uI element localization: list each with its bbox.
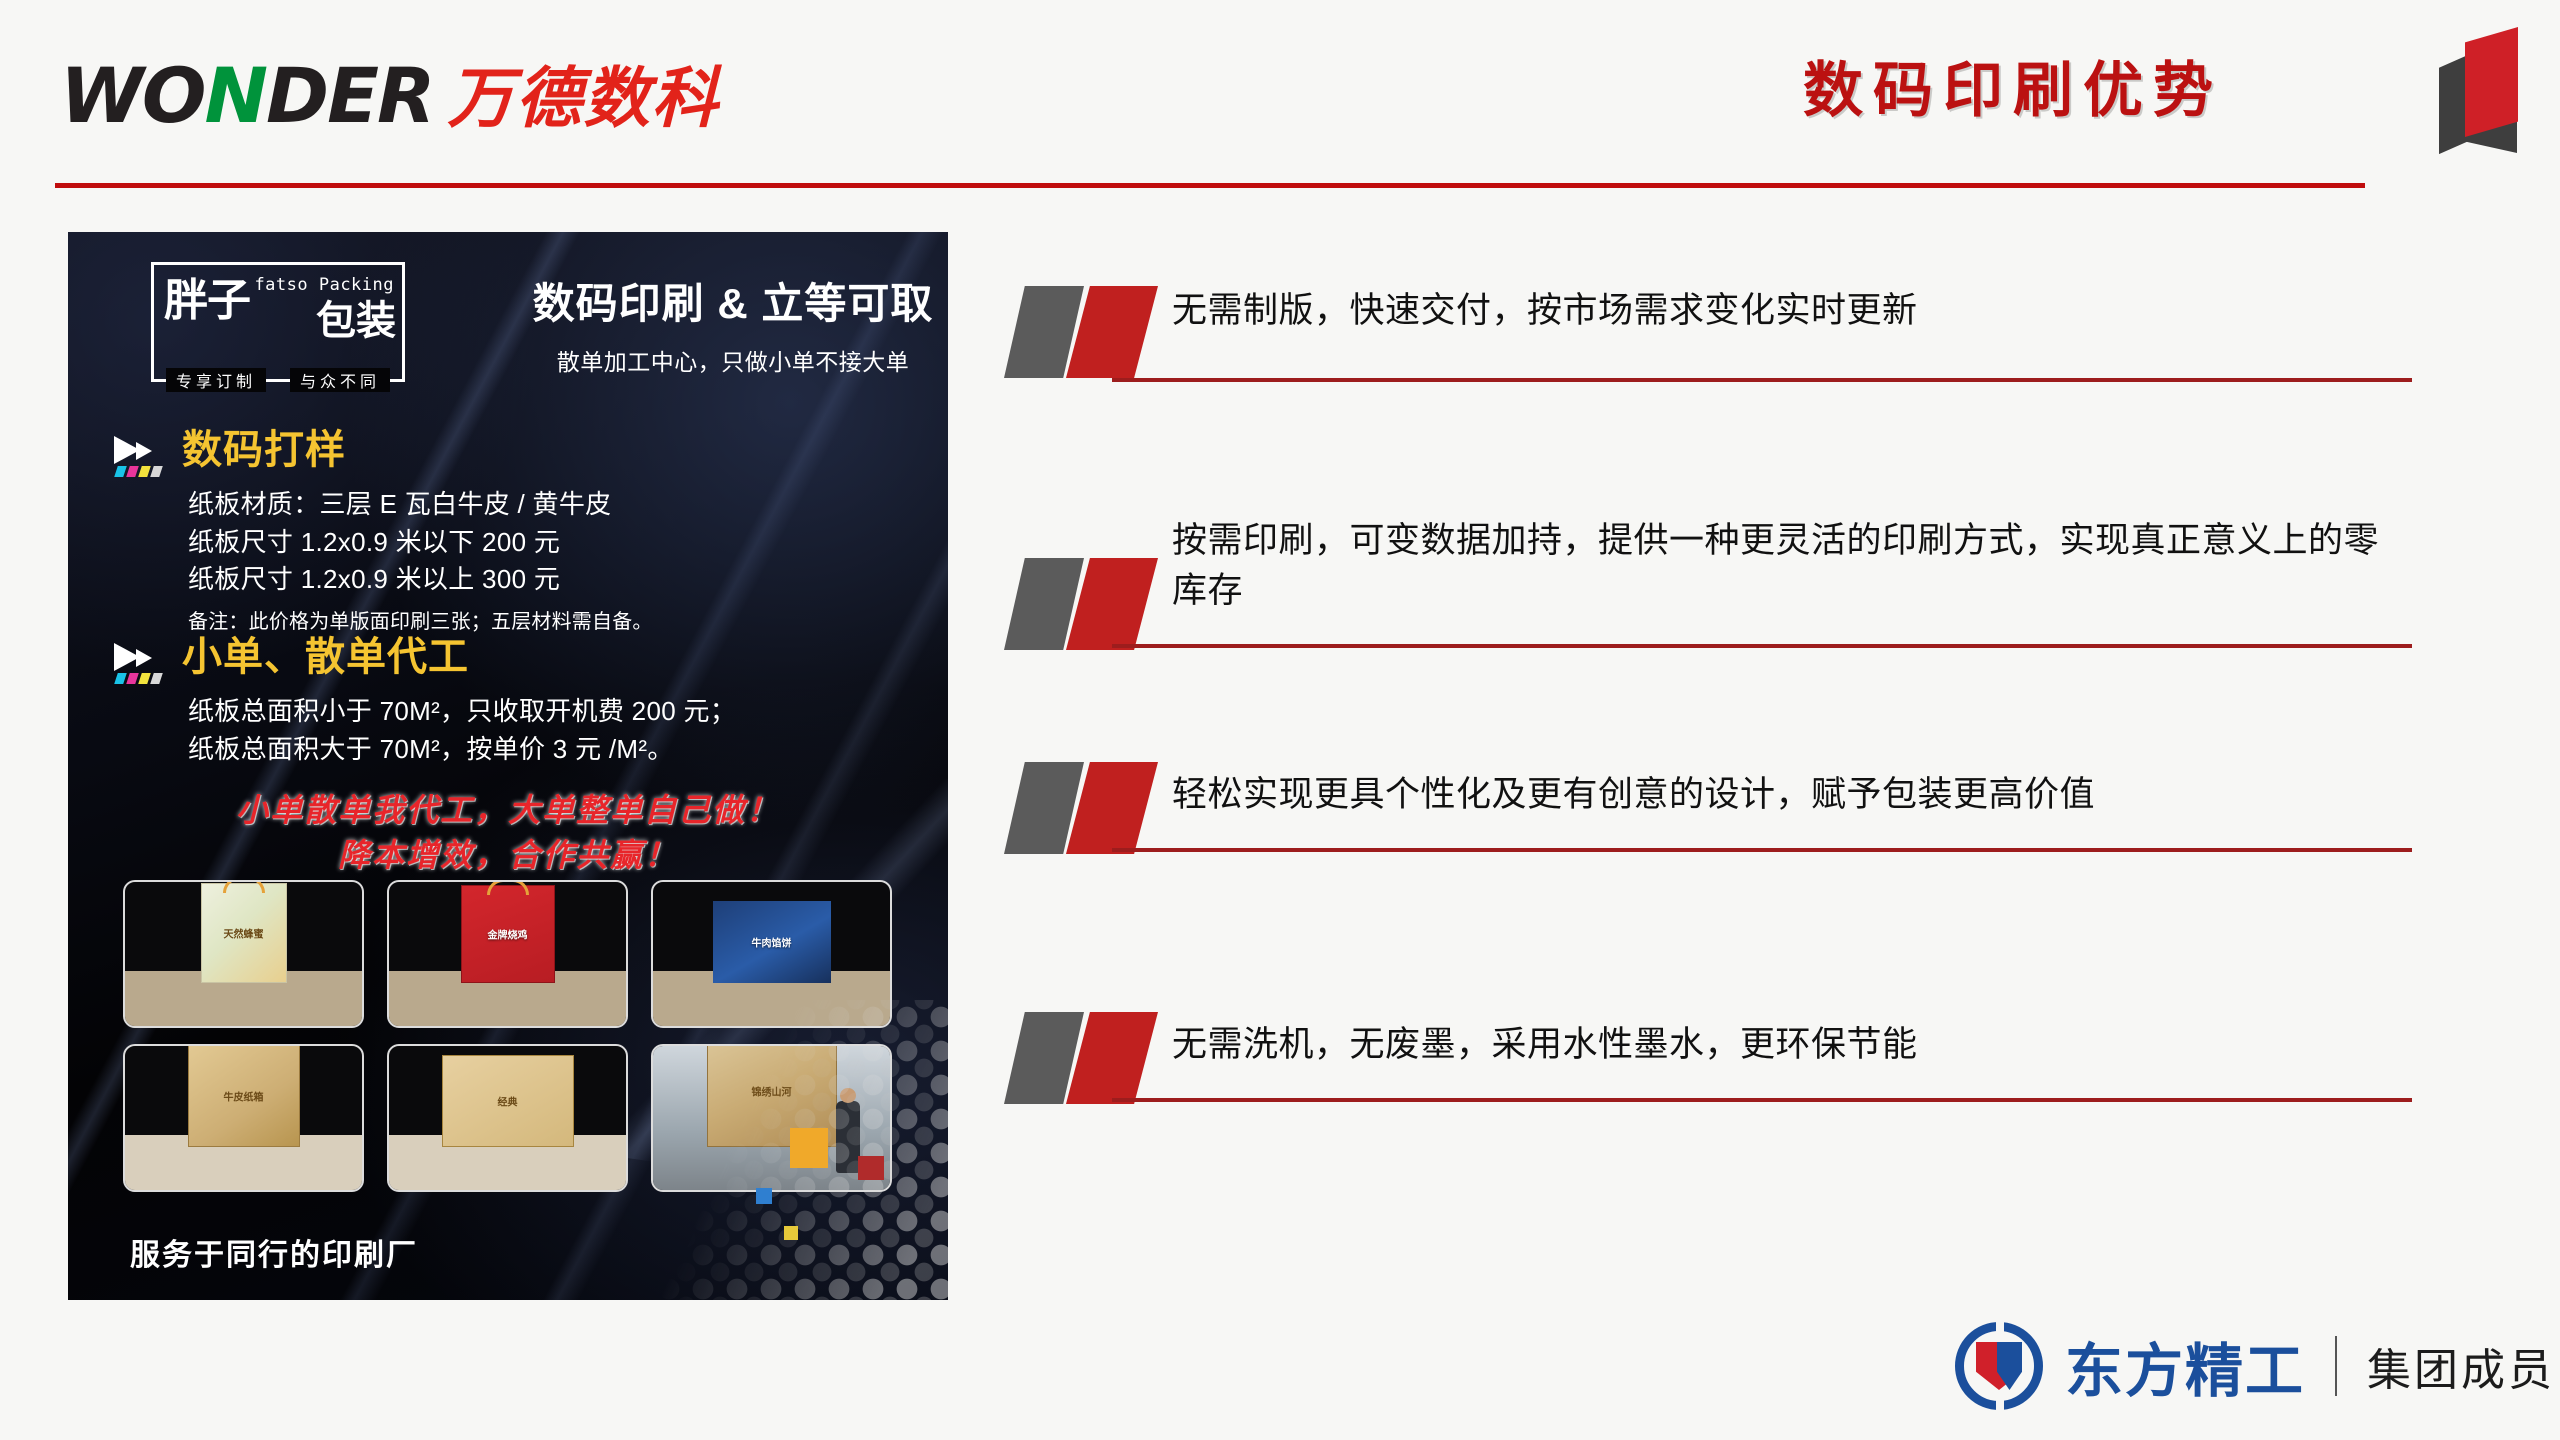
advantage-underline	[1112, 848, 2412, 852]
wonder-wordmark: WONDER	[60, 60, 434, 132]
kraft-carton-image: 牛皮纸箱	[188, 1045, 300, 1147]
advantage-item-4: 无需洗机，无废墨，采用水性墨水，更环保节能	[1000, 998, 2420, 1116]
chevron-accent-mark	[1000, 280, 1180, 380]
wonder-brand-logo: WONDER 万德数科	[60, 40, 720, 132]
tagline-right: 与众不同	[290, 368, 390, 392]
wonder-brand-chinese: 万德数科	[448, 66, 720, 132]
blue-beef-box-image: 牛肉馅饼	[713, 901, 831, 983]
halftone-accent-red	[858, 1156, 884, 1180]
page-title: 数码印刷优势	[1803, 42, 2223, 129]
chevron-accent-mark	[1000, 552, 1180, 652]
poster-footer-caption: 服务于同行的印刷厂	[130, 1230, 418, 1274]
section-line: 纸板尺寸 1.2x0.9 米以上 300 元	[188, 561, 653, 599]
advantage-underline	[1112, 378, 2412, 382]
honey-gift-box-image: 天然蜂蜜	[201, 883, 287, 983]
arrow-chevron-icon	[110, 641, 170, 695]
chevron-accent-mark	[1000, 1006, 1180, 1106]
photo-caption: 牛皮纸箱	[224, 1088, 264, 1103]
cmyk-dot-yellow	[138, 673, 151, 684]
section-line: 纸板总面积小于 70M²，只收取开机费 200 元；	[188, 693, 736, 731]
section-title: 数码打样	[182, 430, 653, 470]
section-line: 纸板尺寸 1.2x0.9 米以下 200 元	[188, 524, 653, 562]
arrow-chevron-icon	[110, 434, 170, 488]
bookmark-red-shape	[2465, 27, 2518, 137]
photo-caption: 金牌烧鸡	[488, 926, 528, 941]
section-line: 纸板总面积大于 70M²，按单价 3 元 /M²。	[188, 731, 736, 769]
product-photo: 金牌烧鸡	[387, 880, 628, 1028]
footer-company-name: 东方精工	[2065, 1324, 2305, 1408]
photo-caption: 天然蜂蜜	[224, 925, 264, 940]
section-title: 小单、散单代工	[182, 637, 736, 677]
cmyk-dot-yellow	[138, 466, 151, 477]
slide-root: WONDER 万德数科 数码印刷优势 胖子 fatso Packing 包装 专…	[0, 0, 2560, 1440]
box-handle	[487, 880, 529, 895]
corner-bookmark-icon	[2437, 13, 2537, 165]
advantage-item-3: 轻松实现更具个性化及更有创意的设计，赋予包装更高价值	[1000, 762, 2420, 880]
header-divider-rule	[55, 183, 2365, 188]
poster-headline-block: 数码印刷 & 立等可取 散单加工中心，只做小单不接大单	[523, 270, 943, 377]
wordmark-part-left: WO	[60, 60, 204, 132]
arrow-chevron-small	[136, 649, 152, 667]
advantage-text: 轻松实现更具个性化及更有创意的设计，赋予包装更高价值	[1172, 770, 2402, 820]
cmyk-dot-cyan	[114, 673, 127, 684]
promo-poster: 胖子 fatso Packing 包装 专享订制 与众不同 数码印刷 & 立等可…	[68, 232, 948, 1300]
advantage-text: 无需洗机，无废墨，采用水性墨水，更环保节能	[1172, 1020, 2402, 1070]
cmyk-dot-key	[150, 466, 163, 477]
poster-subheadline: 散单加工中心，只做小单不接大单	[523, 343, 943, 377]
tagline-left: 专享订制	[166, 368, 266, 392]
box-handle	[223, 880, 265, 893]
fatso-logo-english: fatso Packing	[254, 275, 394, 295]
section-body: 纸板材质：三层 E 瓦白牛皮 / 黄牛皮 纸板尺寸 1.2x0.9 米以下 20…	[188, 486, 653, 599]
footer-divider	[2335, 1336, 2337, 1396]
halftone-accent-orange	[790, 1128, 828, 1168]
cmyk-dot-cyan	[114, 466, 127, 477]
advantages-list: 无需制版，快速交付，按市场需求变化实时更新 按需印刷，可变数据加持，提供一种更灵…	[1000, 280, 2420, 1234]
fatso-logo-cn-top: 胖子	[164, 279, 250, 323]
halftone-dot-pattern	[618, 1000, 948, 1300]
cmyk-dots-icon	[114, 673, 163, 684]
photo-caption: 牛肉馅饼	[752, 934, 792, 949]
advantage-text: 按需印刷，可变数据加持，提供一种更灵活的印刷方式，实现真正意义上的零库存	[1172, 516, 2402, 615]
cmyk-dot-magenta	[126, 466, 139, 477]
classic-gift-boxes-image: 经典	[442, 1055, 574, 1147]
cmyk-dot-key	[150, 673, 163, 684]
poster-slogan: 小单散单我代工，大单整单自己做！ 降本增效，合作共赢！	[68, 788, 948, 879]
advantage-underline	[1112, 1098, 2412, 1102]
fatso-packing-logo: 胖子 fatso Packing 包装 专享订制 与众不同	[151, 262, 405, 382]
cmyk-dot-magenta	[126, 673, 139, 684]
badge-top-notch	[1996, 1319, 2004, 1341]
cmyk-dots-icon	[114, 466, 163, 477]
slogan-line-2: 降本增效，合作共赢！	[68, 833, 948, 878]
poster-section-digital-proofing: 数码打样 纸板材质：三层 E 瓦白牛皮 / 黄牛皮 纸板尺寸 1.2x0.9 米…	[110, 430, 653, 634]
red-gift-box-image: 金牌烧鸡	[461, 885, 555, 983]
advantage-item-2: 按需印刷，可变数据加持，提供一种更灵活的印刷方式，实现真正意义上的零库存	[1000, 516, 2420, 666]
advantage-text: 无需制版，快速交付，按市场需求变化实时更新	[1172, 286, 2402, 336]
product-photo: 天然蜂蜜	[123, 880, 364, 1028]
wordmark-part-right: DER	[266, 60, 434, 132]
advantage-item-1: 无需制版，快速交付，按市场需求变化实时更新	[1000, 280, 2420, 398]
section-body: 纸板总面积小于 70M²，只收取开机费 200 元； 纸板总面积大于 70M²，…	[188, 693, 736, 768]
footer-member-label: 集团成员	[2367, 1334, 2555, 1398]
dongfang-badge-icon	[1955, 1322, 2043, 1410]
wordmark-part-n-green: N	[204, 60, 266, 132]
chevron-accent-mark	[1000, 756, 1180, 856]
poster-headline: 数码印刷 & 立等可取	[523, 270, 943, 331]
fatso-logo-cn-bottom: 包装	[316, 301, 396, 341]
advantage-underline	[1112, 644, 2412, 648]
product-photo: 牛皮纸箱	[123, 1044, 364, 1192]
section-line: 纸板材质：三层 E 瓦白牛皮 / 黄牛皮	[188, 486, 653, 524]
section-note: 备注：此价格为单版面印刷三张；五层材料需自备。	[188, 605, 653, 634]
slogan-line-1: 小单散单我代工，大单整单自己做！	[68, 788, 948, 833]
footer-group-logo: 东方精工 集团成员	[1955, 1318, 2555, 1414]
halftone-accent-blue	[756, 1188, 772, 1204]
halftone-accent-yellow	[784, 1226, 798, 1240]
fatso-logo-taglines: 专享订制 与众不同	[154, 368, 402, 392]
poster-section-small-batch-oem: 小单、散单代工 纸板总面积小于 70M²，只收取开机费 200 元； 纸板总面积…	[110, 637, 736, 768]
arrow-chevron-small	[136, 442, 152, 460]
photo-caption: 经典	[498, 1093, 518, 1108]
badge-bottom-notch	[1996, 1391, 2004, 1413]
product-photo: 经典	[387, 1044, 628, 1192]
